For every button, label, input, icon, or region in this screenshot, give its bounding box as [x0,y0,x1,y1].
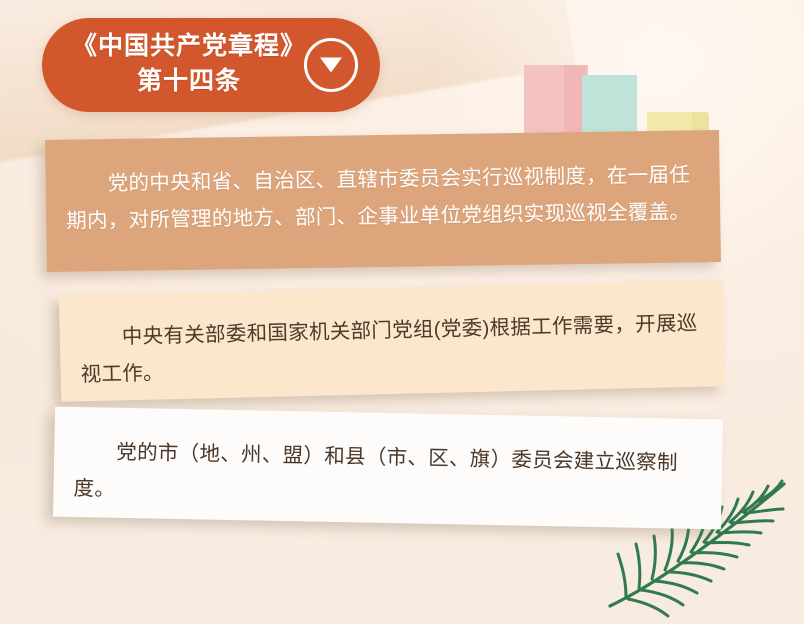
clause-panel-3: 党的市（地、州、盟）和县（市、区、旗）委员会建立巡察制度。 [53,407,723,530]
badge-title-line2: 第十四条 [60,64,318,99]
books-decoration [520,46,740,141]
clause-panel-2: 中央有关部委和国家机关部门党组(党委)根据工作需要，开展巡视工作。 [59,280,725,402]
chevron-down-glyph [320,58,342,73]
clause-panel-1-text: 党的中央和省、自治区、直辖市委员会实行巡视制度，在一届任期内，对所管理的地方、部… [45,130,720,240]
badge-title: 《中国共产党章程》 第十四条 [60,29,318,99]
header-badge[interactable]: 《中国共产党章程》 第十四条 [42,18,380,112]
clause-panel-3-text: 党的市（地、州、盟）和县（市、区、旗）委员会建立巡察制度。 [53,407,723,520]
clause-panel-1: 党的中央和省、自治区、直辖市委员会实行巡视制度，在一届任期内，对所管理的地方、部… [45,130,721,272]
chevron-down-icon[interactable] [304,38,358,92]
badge-title-line1: 《中国共产党章程》 [60,29,318,64]
poster-canvas: 《中国共产党章程》 第十四条 党的中央和省、自治区、直辖市委员会实行巡视制度，在… [0,0,804,624]
clause-panel-2-text: 中央有关部委和国家机关部门党组(党委)根据工作需要，开展巡视工作。 [59,280,725,394]
